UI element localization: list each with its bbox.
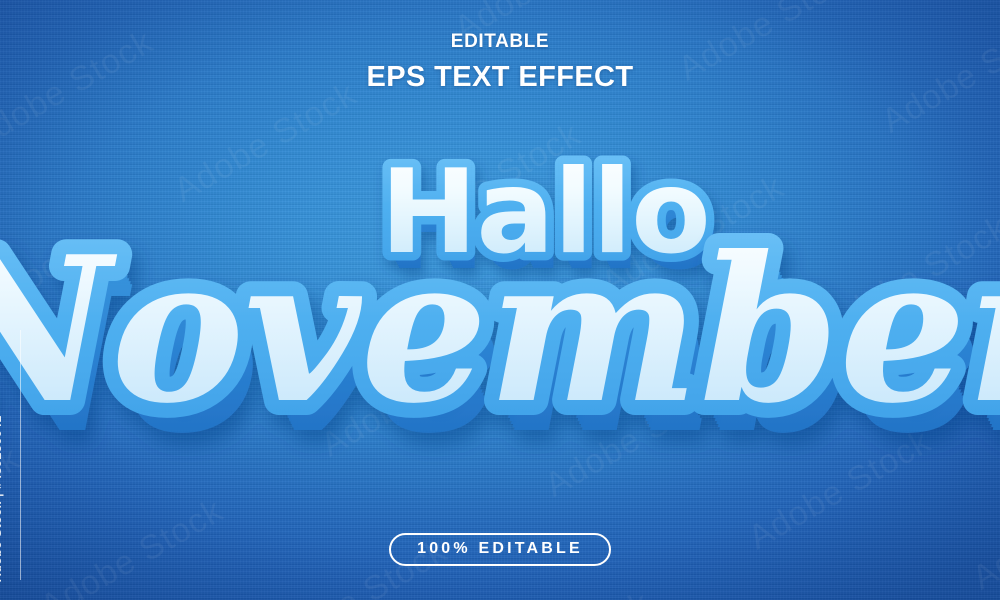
svg-text:November: November — [0, 213, 1000, 448]
poster-canvas: Adobe StockAdobe StockAdobe StockAdobe S… — [0, 0, 1000, 600]
header-block: EDITABLE EPS TEXT EFFECT — [0, 30, 1000, 95]
watermark-divider-rule — [20, 330, 21, 580]
stock-id-watermark: Adobe Stock | #489236641 — [0, 415, 4, 582]
artwork-word-november: November November November November Nove… — [0, 213, 1000, 478]
editable-badge-container: 100% EDITABLE — [0, 533, 1000, 566]
header-editable-label: EDITABLE — [0, 30, 1000, 54]
header-eps-text-effect-label: EPS TEXT EFFECT — [0, 60, 1000, 95]
editable-badge[interactable]: 100% EDITABLE — [389, 533, 611, 566]
